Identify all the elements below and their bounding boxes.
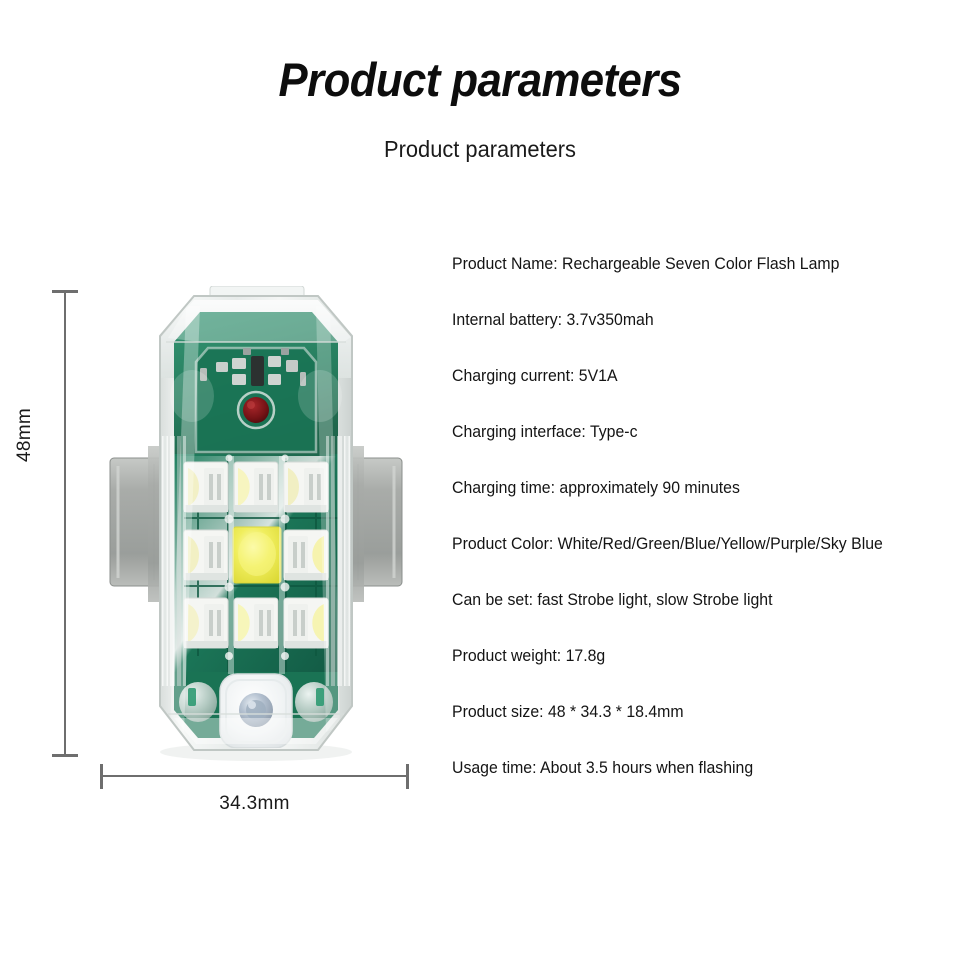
height-dimension-cap-top <box>52 290 78 293</box>
width-dimension-cap-right <box>406 764 409 789</box>
spec-row-product-color: Product Color: White/Red/Green/Blue/Yell… <box>452 536 932 592</box>
spec-row-product-name: Product Name: Rechargeable Seven Color F… <box>452 256 932 312</box>
indicator-led <box>238 392 274 428</box>
spec-row-product-size: Product size: 48 * 34.3 * 18.4mm <box>452 704 932 760</box>
led-chip <box>284 598 328 648</box>
pcb-tab-right <box>316 688 324 706</box>
spec-row-can-be-set: Can be set: fast Strobe light, slow Stro… <box>452 592 932 648</box>
flash-lamp-illustration <box>88 286 424 762</box>
pcb-tab-left <box>188 688 196 706</box>
housing-highlight-bottom <box>174 718 338 744</box>
page-subtitle: Product parameters <box>24 136 936 163</box>
led-chip <box>234 462 278 512</box>
height-dimension-label: 48mm <box>14 408 36 462</box>
led-chip <box>284 530 328 580</box>
led-chip <box>234 598 278 648</box>
height-dimension-cap-bottom <box>52 754 78 757</box>
product-image <box>88 286 424 762</box>
led-chip <box>184 598 228 648</box>
height-dimension-line <box>64 291 66 756</box>
width-dimension-line <box>101 775 408 777</box>
page-title: Product parameters <box>34 52 927 107</box>
width-dimension-label: 34.3mm <box>101 793 408 815</box>
spec-row-product-weight: Product weight: 17.8g <box>452 648 932 704</box>
spec-row-charging-interface: Charging interface: Type-c <box>452 424 932 480</box>
specification-list: Product Name: Rechargeable Seven Color F… <box>452 256 952 816</box>
spec-row-charging-current: Charging current: 5V1A <box>452 368 932 424</box>
spec-row-internal-battery: Internal battery: 3.7v350mah <box>452 312 932 368</box>
spec-row-charging-time: Charging time: approximately 90 minutes <box>452 480 932 536</box>
led-chip-center-lit <box>233 527 281 583</box>
width-dimension-cap-left <box>100 764 103 789</box>
spec-row-usage-time: Usage time: About 3.5 hours when flashin… <box>452 760 932 816</box>
